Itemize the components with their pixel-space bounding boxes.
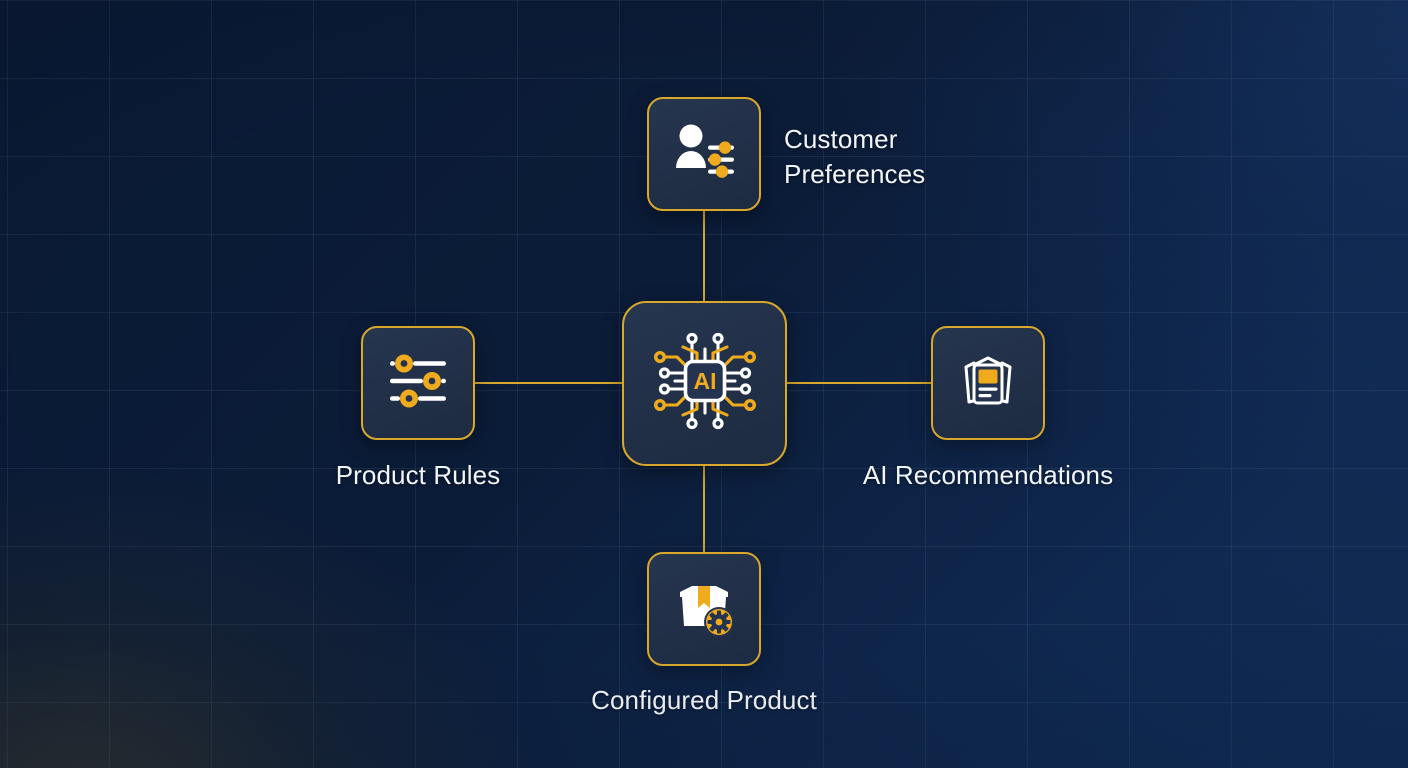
node-label-ai-recommendations: AI Recommendations — [788, 458, 1188, 493]
node-card-customer-preferences[interactable] — [647, 97, 761, 211]
node-card-product-rules[interactable] — [361, 326, 475, 440]
hub-chip-text: AI — [693, 368, 716, 394]
connector-hub-to-right — [786, 382, 933, 384]
node-card-ai-recommendations[interactable] — [931, 326, 1045, 440]
diagram-canvas: Customer Preferences Product — [0, 0, 1408, 768]
card-stack-icon — [951, 344, 1025, 423]
hub-card-ai[interactable]: AI — [622, 301, 787, 466]
connector-hub-to-top — [703, 211, 705, 303]
connector-hub-to-bottom — [703, 464, 705, 554]
user-preferences-icon — [667, 115, 741, 194]
package-gear-icon — [667, 570, 741, 649]
sliders-icon — [382, 345, 454, 422]
connector-hub-to-left — [474, 382, 624, 384]
node-label-customer-preferences: Customer Preferences — [784, 122, 925, 192]
node-label-configured-product: Configured Product — [504, 683, 904, 718]
ai-chip-icon: AI — [647, 323, 763, 444]
node-card-configured-product[interactable] — [647, 552, 761, 666]
node-label-product-rules: Product Rules — [268, 458, 568, 493]
